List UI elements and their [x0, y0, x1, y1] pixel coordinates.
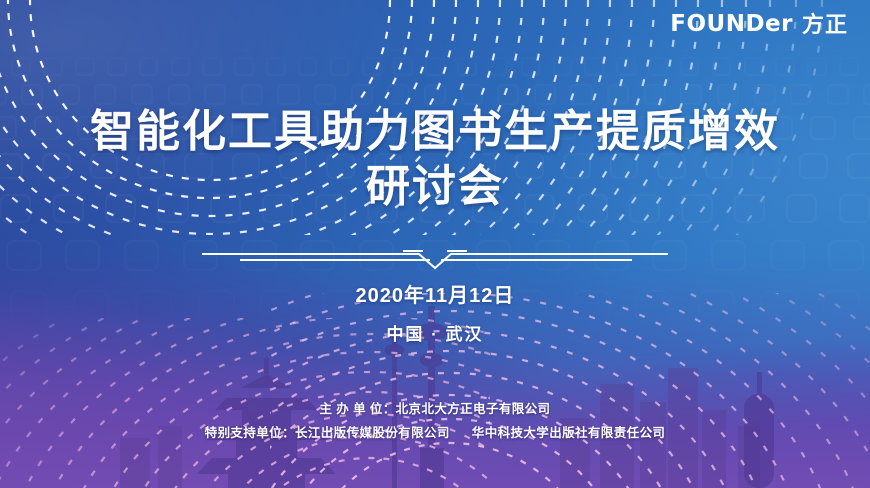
- organizer-line: 主 办 单 位：北京北大方正电子有限公司: [0, 398, 870, 422]
- grid-square: [457, 57, 477, 76]
- grid-square: [155, 34, 171, 51]
- grid-square: [351, 84, 373, 105]
- grid-square: [0, 34, 16, 51]
- grid-square: [647, 34, 663, 51]
- grid-square: [827, 84, 849, 105]
- support-value-1: 长江出版传媒股份有限公司: [295, 426, 450, 440]
- grid-square: [234, 57, 254, 76]
- grid-square: [616, 57, 636, 76]
- grid-square: [77, 34, 93, 51]
- grid-square: [570, 84, 592, 105]
- organizer-label: 主 办 单 位：: [320, 402, 396, 416]
- grid-row: [0, 84, 870, 105]
- grid-square: [744, 57, 764, 76]
- founder-logo-chinese: 方正: [802, 14, 848, 36]
- grid-square: [336, 34, 352, 51]
- title-line-2: 研讨会: [0, 159, 870, 214]
- grid-square: [181, 34, 197, 51]
- poster-footer: 主 办 单 位：北京北大方正电子有限公司 特别支持单位：长江出版传媒股份有限公司…: [0, 398, 870, 446]
- grid-square: [314, 84, 336, 105]
- grid-square: [518, 34, 534, 51]
- grid-square: [21, 84, 43, 105]
- grid-square: [107, 57, 127, 76]
- grid-square: [424, 84, 446, 105]
- grid-square: [139, 57, 159, 76]
- grid-square: [11, 57, 31, 76]
- grid-square: [607, 84, 629, 105]
- grid-square: [362, 57, 382, 76]
- grid-square: [204, 84, 226, 105]
- grid-square: [43, 57, 63, 76]
- grid-square: [717, 84, 739, 105]
- grid-square: [103, 34, 119, 51]
- grid-square: [393, 57, 413, 76]
- grid-square: [492, 34, 508, 51]
- grid-square: [26, 34, 42, 51]
- event-meta: 2020年11月12日 中国 · 武汉: [0, 283, 870, 345]
- grid-square: [277, 84, 299, 105]
- grid-square: [207, 34, 223, 51]
- grid-square: [440, 34, 456, 51]
- grid-square: [461, 84, 483, 105]
- event-location: 中国 · 武汉: [0, 320, 870, 345]
- grid-square: [803, 34, 819, 51]
- grid-square: [241, 84, 263, 105]
- grid-square: [754, 84, 776, 105]
- grid-square: [387, 84, 409, 105]
- grid-square: [171, 57, 191, 76]
- event-date: 2020年11月12日: [0, 283, 870, 310]
- grid-square: [712, 57, 732, 76]
- grid-square: [310, 34, 326, 51]
- grid-square: [544, 34, 560, 51]
- grid-square: [298, 57, 318, 76]
- title-line-1: 智能化工具助力图书生产提质增效: [0, 104, 870, 159]
- founder-logo-wordmark: FOUNDer: [670, 13, 793, 36]
- grid-square: [680, 57, 700, 76]
- support-label: 特别支持单位：: [205, 426, 295, 440]
- grid-square: [621, 34, 637, 51]
- grid-square: [584, 57, 604, 76]
- grid-square: [466, 34, 482, 51]
- grid-square: [129, 34, 145, 51]
- grid-square: [534, 84, 556, 105]
- v-notch-divider-ornament-icon: [0, 246, 870, 272]
- grid-square: [168, 84, 190, 105]
- grid-square: [855, 34, 870, 51]
- grid-square: [0, 84, 7, 105]
- grid-square: [863, 84, 870, 105]
- grid-row: [0, 57, 870, 76]
- grid-square: [521, 57, 541, 76]
- grid-square: [790, 84, 812, 105]
- grid-square: [489, 57, 509, 76]
- organizer-value: 北京北大方正电子有限公司: [396, 402, 551, 416]
- grid-square: [51, 34, 67, 51]
- support-line: 特别支持单位：长江出版传媒股份有限公司华中科技大学出版社有限责任公司: [0, 422, 870, 446]
- grid-square: [285, 34, 301, 51]
- grid-square: [595, 34, 611, 51]
- grid-square: [839, 57, 859, 76]
- grid-square: [807, 57, 827, 76]
- grid-square: [75, 57, 95, 76]
- support-value-2: 华中科技大学出版社有限责任公司: [472, 426, 666, 440]
- grid-square: [644, 84, 666, 105]
- grid-square: [680, 84, 702, 105]
- grid-square: [829, 34, 845, 51]
- grid-square: [259, 34, 275, 51]
- poster-title: 智能化工具助力图书生产提质增效 研讨会: [0, 104, 870, 215]
- grid-square: [330, 57, 350, 76]
- grid-square: [425, 57, 445, 76]
- grid-square: [553, 57, 573, 76]
- grid-square: [266, 57, 286, 76]
- grid-square: [570, 34, 586, 51]
- grid-square: [775, 57, 795, 76]
- grid-square: [233, 34, 249, 51]
- grid-square: [648, 57, 668, 76]
- founder-logo: FOUNDer 方正: [670, 13, 848, 36]
- grid-square: [414, 34, 430, 51]
- grid-square: [497, 84, 519, 105]
- grid-square: [388, 34, 404, 51]
- grid-square: [58, 84, 80, 105]
- grid-square: [131, 84, 153, 105]
- grid-square: [202, 57, 222, 76]
- conference-poster: FOUNDer 方正 智能化工具助力图书生产提质增效 研讨会 2020年11月1…: [0, 0, 870, 488]
- grid-square: [94, 84, 116, 105]
- grid-square: [362, 34, 378, 51]
